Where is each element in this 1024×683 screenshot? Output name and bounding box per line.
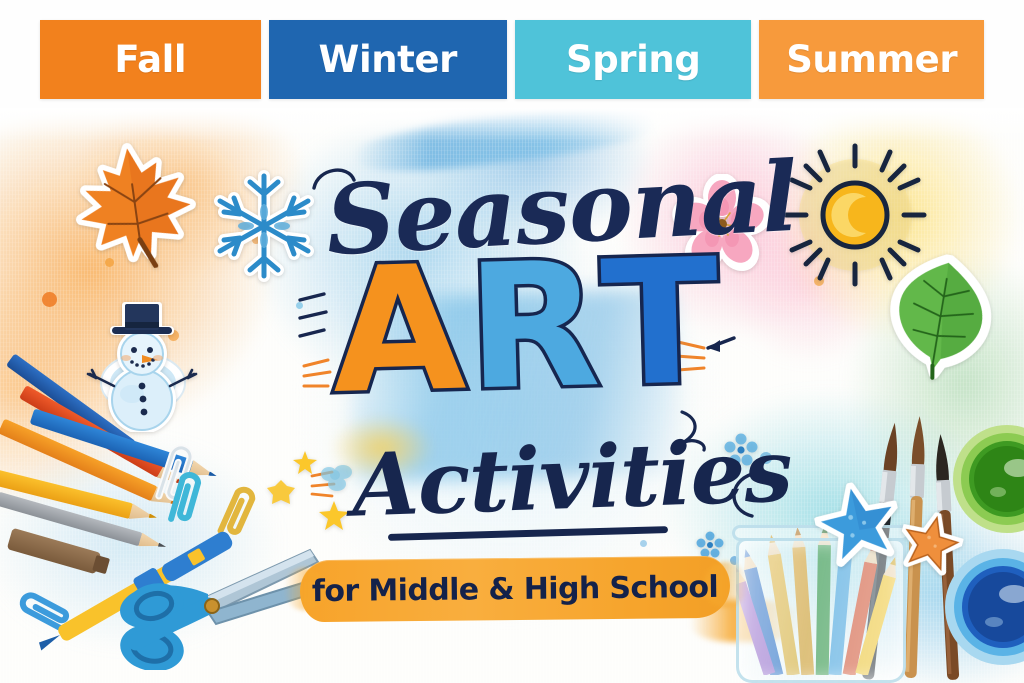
snowflake-sticker [206,168,322,284]
cherry-blossom-sticker [672,174,772,274]
marker-brown [7,528,102,575]
season-tab-summer[interactable]: Summer [759,20,984,99]
sparkle-burst-doodle [298,356,332,401]
yellow-star-sticker [318,500,350,532]
seasonal-art-poster: Fall Winter Spring Summer [0,0,1024,683]
season-tab-fall-label: Fall [114,38,186,81]
maple-leaf-sticker [66,132,205,278]
speed-lines-doodle [296,292,332,353]
blue-flower-doodle [696,530,724,558]
blue-flower-doodle [319,462,355,494]
season-tab-bar: Fall Winter Spring Summer [0,0,1024,118]
snowman-sticker [82,282,202,432]
season-tab-winter[interactable]: Winter [269,20,507,99]
season-tab-spring[interactable]: Spring [515,20,751,99]
season-tab-spring-label: Spring [566,38,701,81]
blue-flower-doodle [724,432,758,466]
season-tab-winter-label: Winter [319,38,457,81]
season-tab-fall[interactable]: Fall [40,20,261,99]
yellow-star-sticker [292,450,318,476]
circle-doodle [722,468,762,527]
green-leaf-sticker [874,245,1004,388]
scissors[interactable] [96,520,326,670]
blue-star-sticker [808,474,907,572]
season-tab-summer-label: Summer [786,38,957,81]
yellow-blob-sticker [266,478,296,506]
swirl-doodle [676,408,710,457]
arrow-doodle [700,332,736,363]
